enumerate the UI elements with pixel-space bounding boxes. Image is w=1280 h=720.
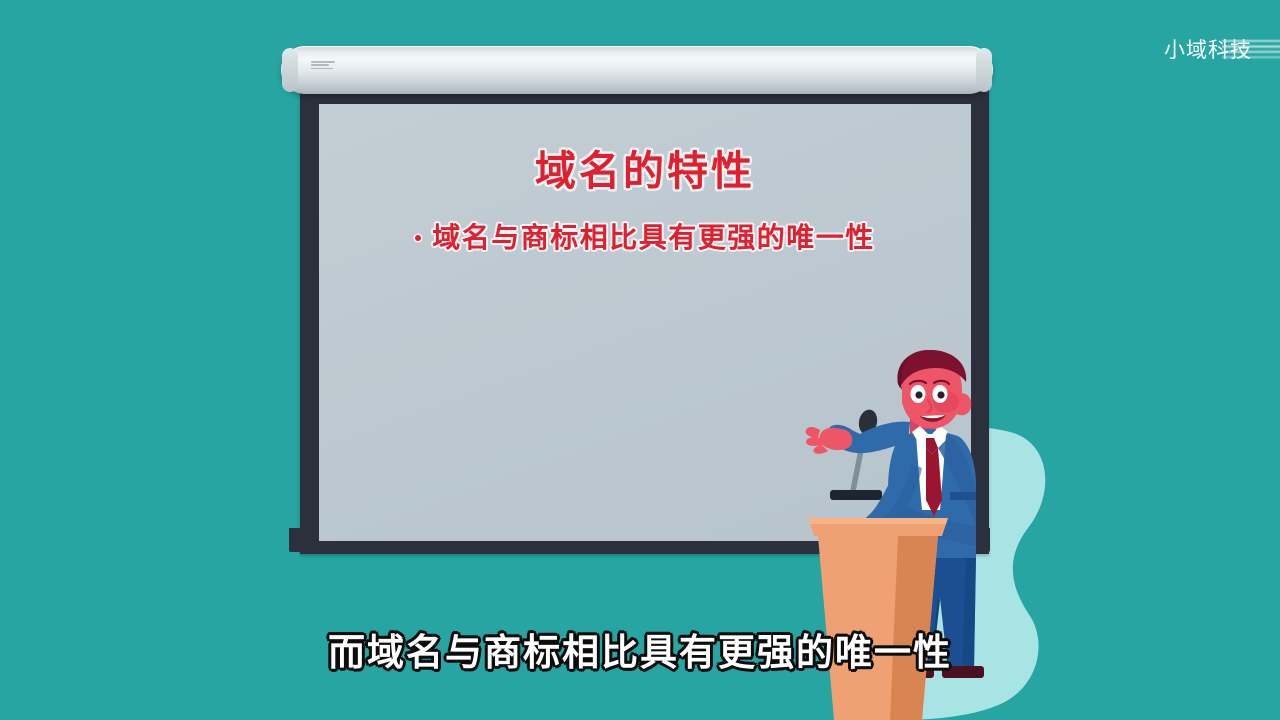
slide-title: 域名的特性 [319, 137, 971, 197]
video-frame: 小域科技 域名的特性 域名与商标相比具有更强的唯一性 [0, 0, 1280, 720]
brand-lines-icon [311, 61, 335, 72]
screen-casing [281, 46, 993, 94]
presenter-illustration [790, 350, 1090, 720]
microphone-icon [830, 408, 882, 500]
presenter-head [897, 350, 971, 429]
podium [808, 518, 948, 720]
bullet-dot-icon [415, 235, 421, 241]
slide-bullet-label: 域名与商标相比具有更强的唯一性 [432, 216, 875, 256]
casing-end-cap-right [976, 48, 992, 92]
slide-bullet-item: 域名与商标相比具有更强的唯一性 [319, 216, 971, 256]
shoe-right [942, 666, 984, 678]
jacket-pocket [950, 492, 976, 500]
casing-end-cap-left [282, 48, 298, 92]
